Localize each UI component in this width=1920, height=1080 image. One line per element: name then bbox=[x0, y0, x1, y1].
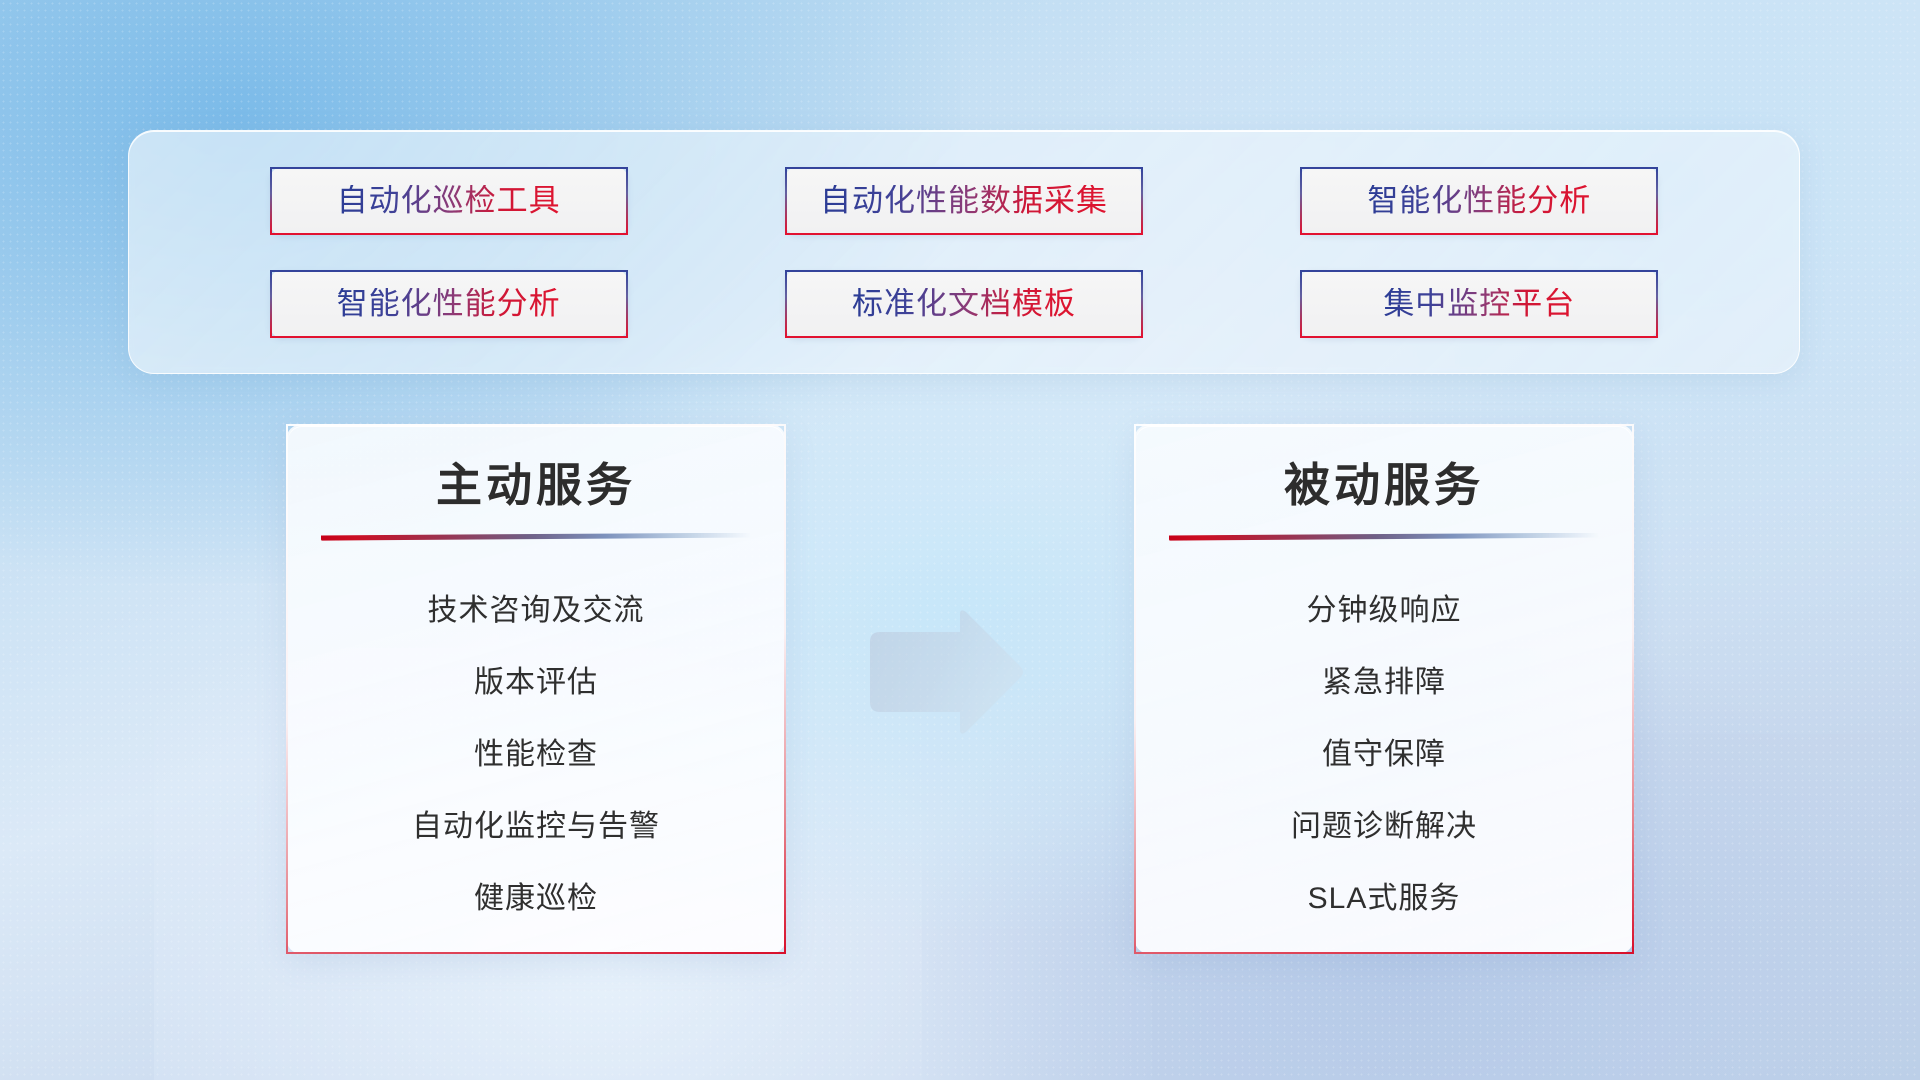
capability-tag-label: 智能化性能分析 bbox=[337, 288, 561, 319]
service-card-reactive[interactable]: 被动服务 分钟级响应 紧急排障 值守保障 问题诊断解决 SLA式服务 bbox=[1134, 424, 1634, 954]
service-list-item: 性能检查 bbox=[474, 719, 598, 791]
capability-tag-label: 自动化性能数据采集 bbox=[820, 185, 1108, 216]
capability-tag-label: 集中监控平台 bbox=[1383, 288, 1575, 319]
title-divider bbox=[321, 533, 751, 541]
service-list-item: 健康巡检 bbox=[474, 863, 598, 935]
capability-tag[interactable]: 智能化性能分析 bbox=[1300, 167, 1658, 235]
service-list-item: SLA式服务 bbox=[1308, 863, 1461, 935]
service-card-proactive[interactable]: 主动服务 技术咨询及交流 版本评估 性能检查 自动化监控与告警 健康巡检 bbox=[286, 424, 786, 954]
service-card-title: 主动服务 bbox=[436, 460, 636, 511]
service-card-title: 被动服务 bbox=[1284, 460, 1484, 511]
capability-tag-grid: 自动化巡检工具 自动化性能数据采集 智能化性能分析 智能化性能分析 标准化文档模… bbox=[129, 131, 1799, 373]
capability-tag[interactable]: 智能化性能分析 bbox=[270, 270, 628, 338]
arrow-right-icon bbox=[866, 608, 1026, 736]
capability-tag-label: 标准化文档模板 bbox=[852, 288, 1076, 319]
capability-tag[interactable]: 自动化性能数据采集 bbox=[785, 167, 1143, 235]
service-list-item: 紧急排障 bbox=[1322, 647, 1446, 719]
capability-tag[interactable]: 集中监控平台 bbox=[1300, 270, 1658, 338]
service-list-item: 技术咨询及交流 bbox=[428, 575, 645, 647]
capability-tag-label: 自动化巡检工具 bbox=[337, 185, 561, 216]
capability-tag[interactable]: 自动化巡检工具 bbox=[270, 167, 628, 235]
service-list-item: 自动化监控与告警 bbox=[412, 791, 660, 863]
capability-tag-label: 智能化性能分析 bbox=[1367, 185, 1591, 216]
service-item-list: 技术咨询及交流 版本评估 性能检查 自动化监控与告警 健康巡检 bbox=[288, 575, 784, 935]
title-divider bbox=[1169, 533, 1599, 541]
capability-panel: 自动化巡检工具 自动化性能数据采集 智能化性能分析 智能化性能分析 标准化文档模… bbox=[128, 130, 1800, 374]
service-list-item: 问题诊断解决 bbox=[1291, 791, 1477, 863]
service-list-item: 值守保障 bbox=[1322, 719, 1446, 791]
capability-tag[interactable]: 标准化文档模板 bbox=[785, 270, 1143, 338]
service-list-item: 版本评估 bbox=[474, 647, 598, 719]
diagram-stage: 自动化巡检工具 自动化性能数据采集 智能化性能分析 智能化性能分析 标准化文档模… bbox=[0, 0, 1920, 1080]
service-list-item: 分钟级响应 bbox=[1307, 575, 1462, 647]
service-item-list: 分钟级响应 紧急排障 值守保障 问题诊断解决 SLA式服务 bbox=[1136, 575, 1632, 935]
